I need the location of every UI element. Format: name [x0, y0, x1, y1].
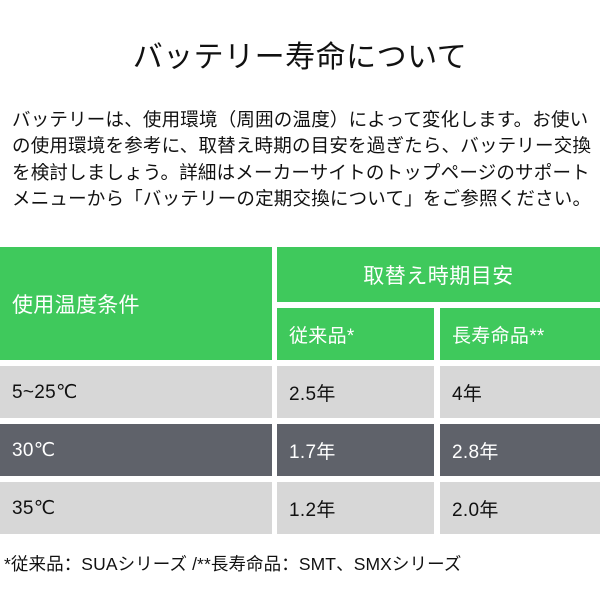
table-header-group: 取替え時期目安 従来品* 長寿命品**	[277, 247, 600, 360]
table-subheader-conventional: 従来品*	[277, 308, 434, 360]
table-row: 35℃ 1.2年 2.0年	[0, 482, 600, 534]
table-row: 5~25℃ 2.5年 4年	[0, 366, 600, 418]
cell-long-life: 2.8年	[440, 424, 600, 476]
table-subheader-row: 従来品* 長寿命品**	[277, 308, 600, 360]
cell-conventional: 1.7年	[277, 424, 434, 476]
table-row: 30℃ 1.7年 2.8年	[0, 424, 600, 476]
table-header-row: 使用温度条件 取替え時期目安 従来品* 長寿命品**	[0, 247, 600, 360]
replacement-period-table: 使用温度条件 取替え時期目安 従来品* 長寿命品** 5~25℃ 2.5年 4年	[0, 247, 600, 534]
cell-conventional: 1.2年	[277, 482, 434, 534]
table-subheader-long-life: 長寿命品**	[440, 308, 600, 360]
table-footnote: *従来品：SUAシリーズ /**長寿命品：SMT、SMXシリーズ	[4, 552, 600, 576]
cell-condition: 35℃	[0, 482, 272, 534]
battery-life-info-page: バッテリー寿命について バッテリーは、使用環境（周囲の温度）によって変化します。…	[0, 0, 600, 600]
cell-long-life: 2.0年	[440, 482, 600, 534]
cell-condition: 5~25℃	[0, 366, 272, 418]
cell-conventional: 2.5年	[277, 366, 434, 418]
page-title: バッテリー寿命について	[0, 38, 600, 78]
body-paragraph: バッテリーは、使用環境（周囲の温度）によって変化します。お使いの使用環境を参考に…	[12, 107, 592, 213]
table-header-replacement-period: 取替え時期目安	[277, 247, 600, 302]
cell-condition: 30℃	[0, 424, 272, 476]
table-header-usage-temperature: 使用温度条件	[0, 247, 272, 360]
cell-long-life: 4年	[440, 366, 600, 418]
